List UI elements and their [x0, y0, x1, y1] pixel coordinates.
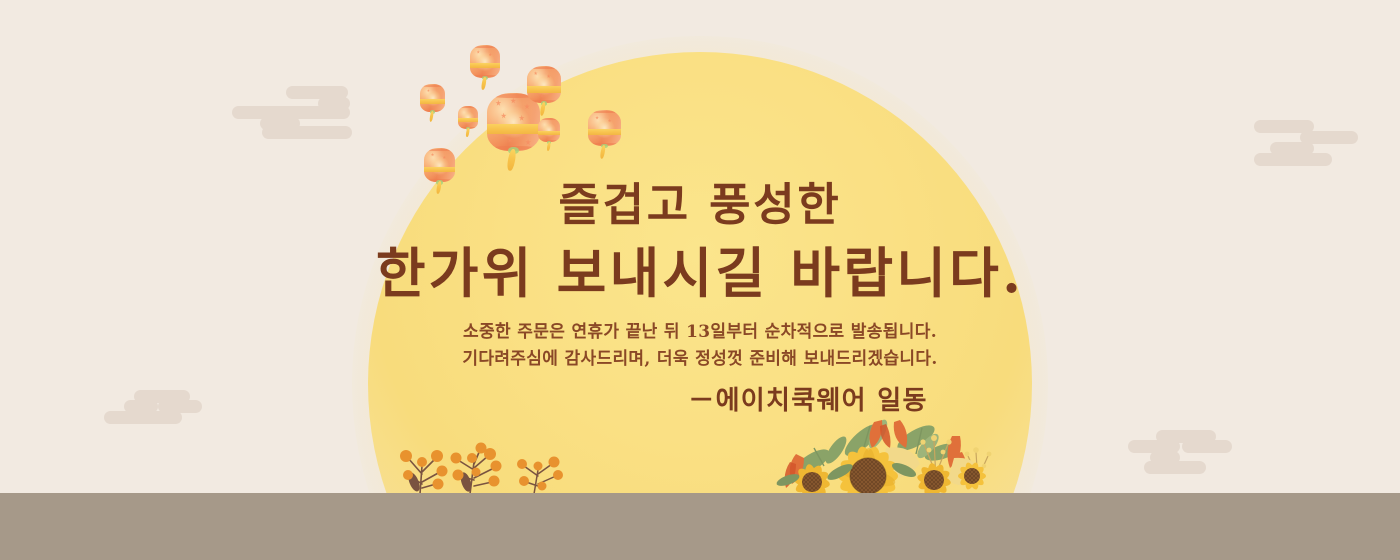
sky-lantern-4-icon: [458, 106, 478, 135]
sky-lantern-8-icon: [588, 110, 621, 156]
headline-line-1: 즐겁고 풍성한: [0, 182, 1400, 227]
berry-sprig-cluster: [392, 432, 592, 496]
chuseok-greeting-banner: 즐겁고 풍성한 한가위 보내시길 바랍니다. 소중한 주문은 연휴가 끝난 뒤 …: [0, 0, 1400, 560]
sky-lantern-5-icon: [527, 66, 561, 114]
cloud-bottom-right-icon: [1128, 430, 1238, 474]
body-line-2: 기다려주심에 감사드리며, 더욱 정성껏 준비해 보내드리겠습니다.: [0, 344, 1400, 369]
sky-lantern-7-icon: [538, 118, 560, 149]
headline-line-2: 한가위 보내시길 바랍니다.: [0, 246, 1400, 300]
sunflower-bouquet: [766, 414, 1010, 496]
sky-lantern-2-icon: [420, 84, 445, 120]
signature-line: －에이치쿡웨어 일동: [0, 380, 1400, 417]
cloud-top-left-icon: [232, 86, 352, 136]
body-line-1: 소중한 주문은 연휴가 끝난 뒤 13일부터 순차적으로 발송됩니다.: [0, 317, 1400, 342]
cloud-top-right-icon: [1248, 120, 1358, 166]
sky-lantern-1-icon: [470, 45, 500, 87]
footer-band: [0, 493, 1400, 560]
